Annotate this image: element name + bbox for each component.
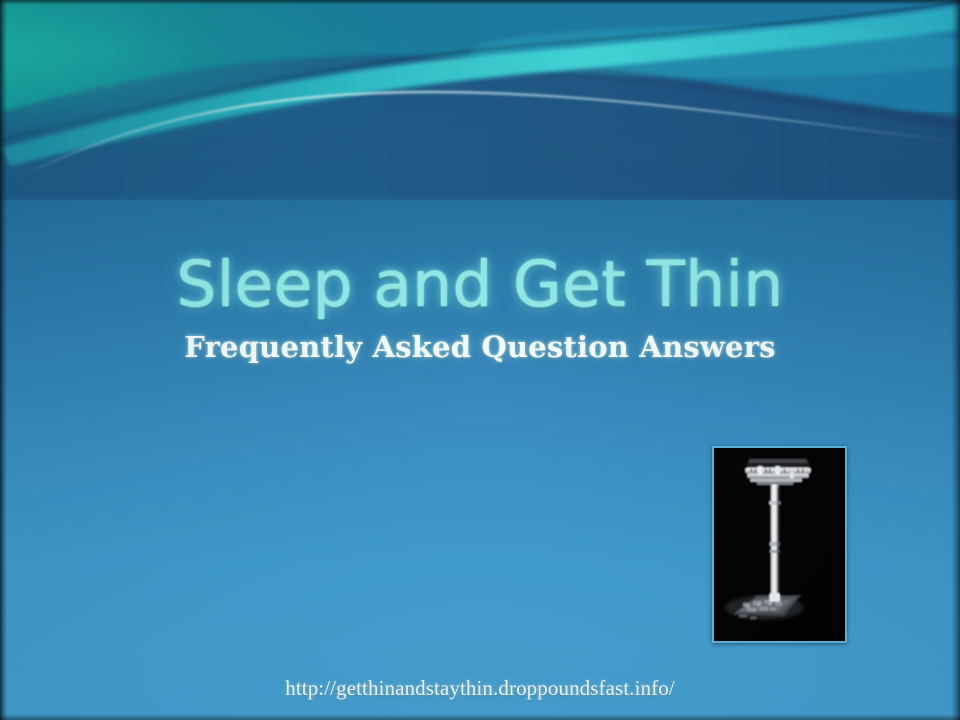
frame-edge-bottom (0, 714, 960, 720)
page-subtitle: Frequently Asked Question Answers (0, 331, 960, 363)
frame-edge-top (0, 0, 960, 5)
presentation-slide: Sleep and Get Thin Frequently Asked Ques… (0, 0, 960, 720)
flow-theme-wave-graphic (0, 0, 960, 180)
title-block: Sleep and Get Thin Frequently Asked Ques… (0, 252, 960, 363)
frame-edge-right (951, 0, 960, 720)
page-title: Sleep and Get Thin (0, 252, 960, 319)
wave-teal-highlight (0, 0, 380, 150)
video-watermark-artifact (14, 697, 184, 713)
wave-dark-band (0, 0, 960, 200)
frame-edge-left (0, 0, 7, 720)
balance-scale-photo (712, 446, 847, 643)
balance-scale-illustration (714, 448, 845, 641)
